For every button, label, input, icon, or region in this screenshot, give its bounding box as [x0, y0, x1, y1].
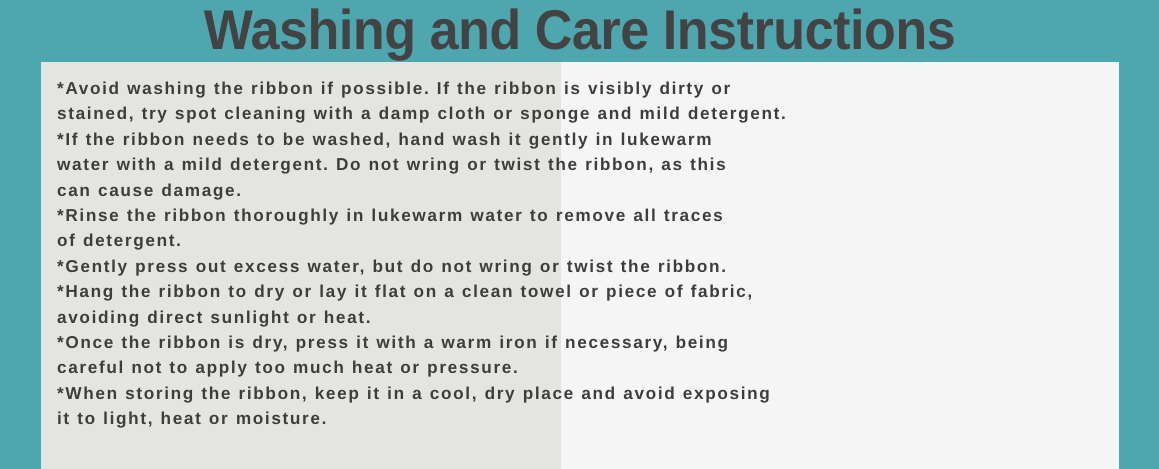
instruction-line: of detergent.	[57, 228, 1119, 253]
page-title: Washing and Care Instructions	[41, 1, 1119, 59]
instruction-line: water with a mild detergent. Do not wrin…	[57, 152, 1119, 177]
care-instructions-poster: Washing and Care Instructions *Avoid was…	[0, 0, 1159, 469]
instruction-line: *When storing the ribbon, keep it in a c…	[57, 381, 1119, 406]
instruction-line: it to light, heat or moisture.	[57, 406, 1119, 431]
instruction-line: *Gently press out excess water, but do n…	[57, 254, 1119, 279]
instruction-line: avoiding direct sunlight or heat.	[57, 305, 1119, 330]
instructions-panel: *Avoid washing the ribbon if possible. I…	[41, 62, 1119, 469]
instruction-line: *Avoid washing the ribbon if possible. I…	[57, 76, 1119, 101]
instruction-line: careful not to apply too much heat or pr…	[57, 355, 1119, 380]
instruction-line: *Rinse the ribbon thoroughly in lukewarm…	[57, 203, 1119, 228]
instruction-line: stained, try spot cleaning with a damp c…	[57, 101, 1119, 126]
instruction-line: *If the ribbon needs to be washed, hand …	[57, 127, 1119, 152]
instruction-line: can cause damage.	[57, 178, 1119, 203]
instruction-line: *Once the ribbon is dry, press it with a…	[57, 330, 1119, 355]
instructions-text-block: *Avoid washing the ribbon if possible. I…	[57, 76, 1119, 431]
instruction-line: *Hang the ribbon to dry or lay it flat o…	[57, 279, 1119, 304]
